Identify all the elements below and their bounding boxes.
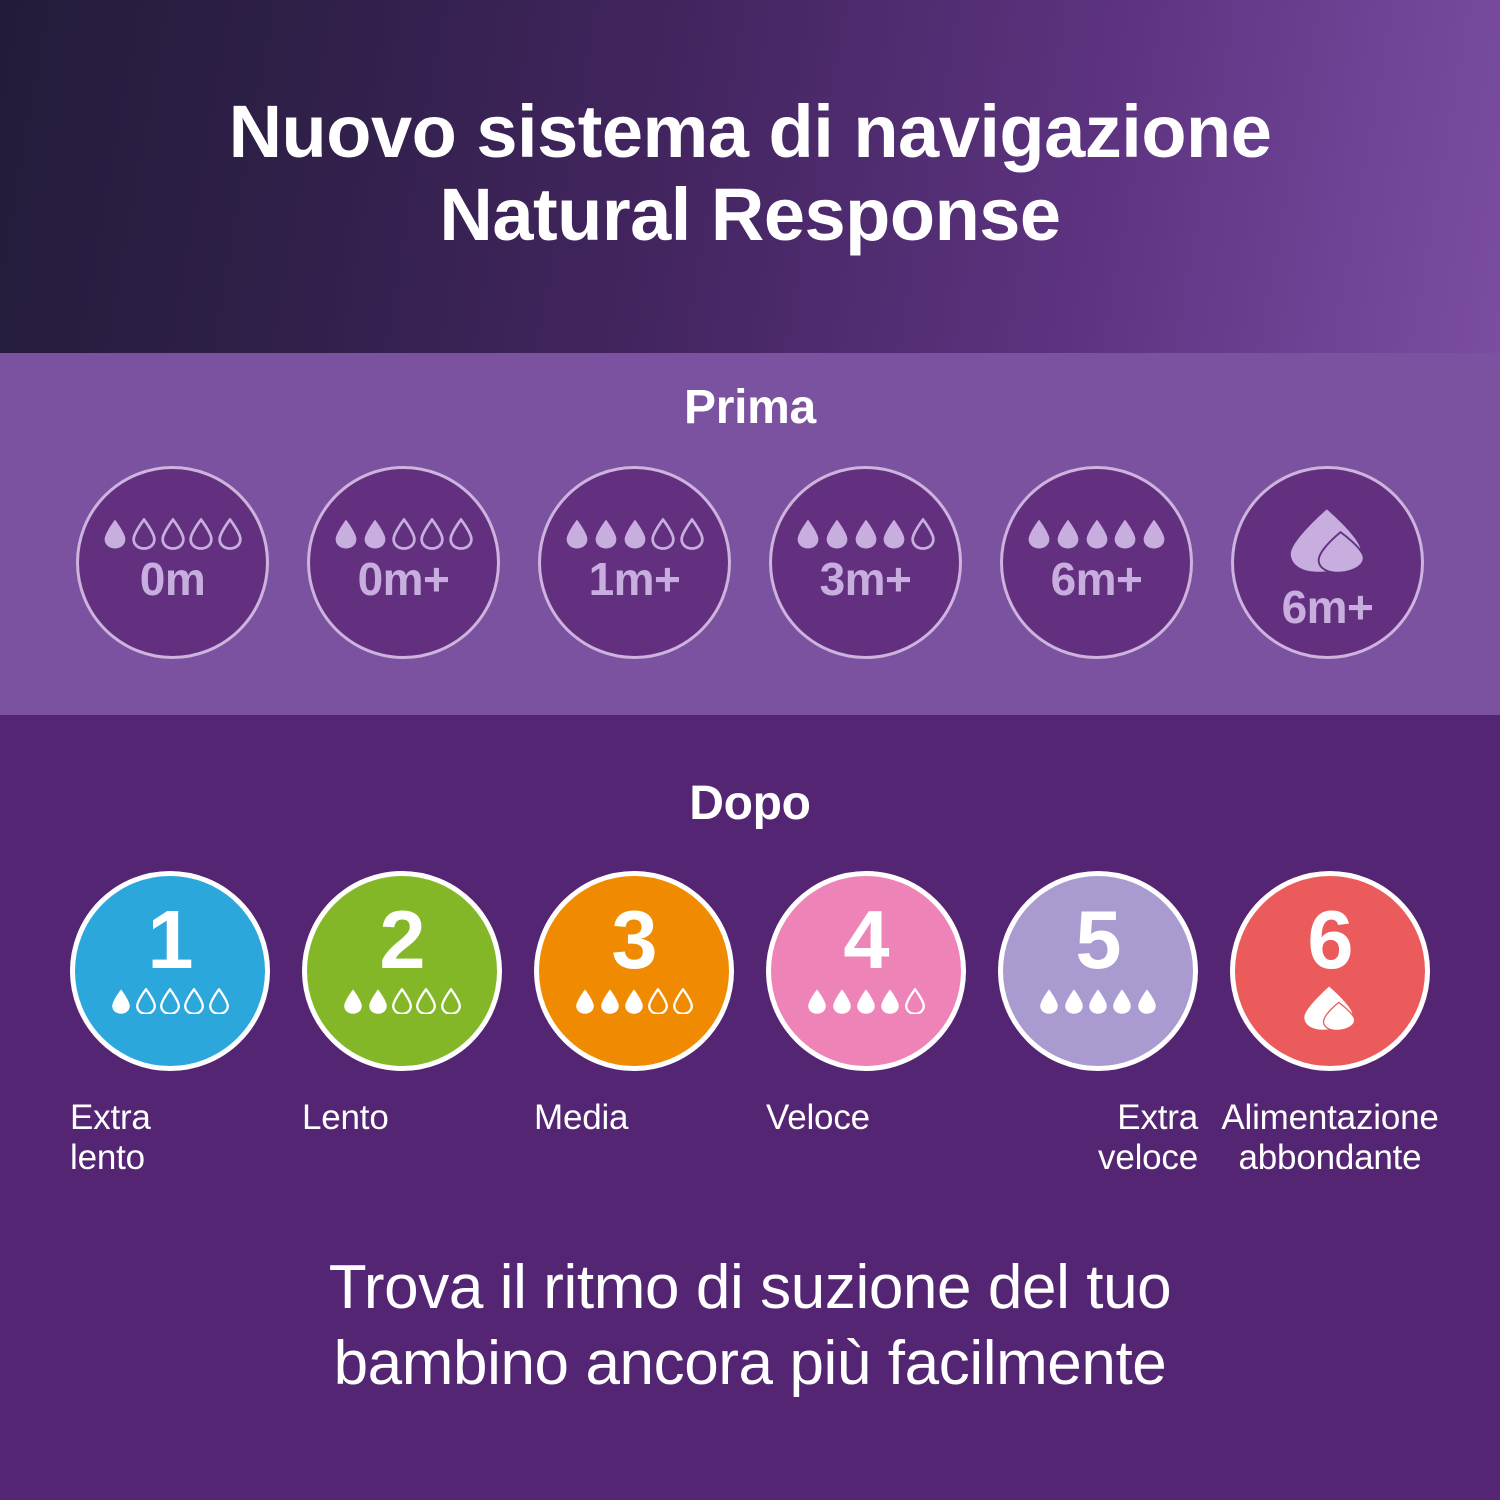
droplet-filled-icon <box>1087 988 1109 1015</box>
droplet-filled-icon <box>1136 988 1158 1015</box>
droplet-outline-icon <box>391 988 413 1015</box>
after-item-circle: 5 <box>998 871 1198 1071</box>
tagline-line2: bambino ancora più facilmente <box>0 1326 1500 1402</box>
droplet-row-icon <box>564 517 705 551</box>
before-items-row: 0m0m+1m+3m+6m+6m+ <box>0 466 1500 686</box>
after-item: 1 <box>70 871 270 1079</box>
droplet-filled-icon <box>599 988 621 1015</box>
droplet-row-icon <box>102 517 243 551</box>
after-item: 6 <box>1230 871 1430 1079</box>
before-item-age-label: 0m <box>140 556 205 602</box>
droplet-outline-icon <box>419 518 445 550</box>
after-items-row: 123456 <box>0 871 1500 1079</box>
thick-feed-icon-holder <box>1286 507 1370 579</box>
after-item-number: 6 <box>1307 898 1352 981</box>
droplet-outline-icon <box>135 988 157 1015</box>
after-item-circle: 2 <box>302 871 502 1071</box>
before-heading: Prima <box>0 380 1500 435</box>
before-item-circle: 1m+ <box>538 466 731 659</box>
header-banner: Nuovo sistema di navigazione Natural Res… <box>0 0 1500 353</box>
droplet-row-icon <box>333 517 474 551</box>
droplet-row-icon <box>1038 986 1158 1016</box>
droplet-outline-icon <box>910 518 936 550</box>
after-item-circle: 3 <box>534 871 734 1071</box>
droplet-outline-icon <box>391 518 417 550</box>
droplet-outline-icon <box>679 518 705 550</box>
before-item-circle: 3m+ <box>769 466 962 659</box>
before-item-age-label: 6m+ <box>1051 556 1143 602</box>
droplet-filled-icon <box>623 988 645 1015</box>
droplet-outline-icon <box>217 518 243 550</box>
droplet-filled-icon <box>795 518 821 550</box>
thick-feed-icon <box>1286 507 1370 574</box>
after-item-label: Extra lento <box>70 1098 270 1178</box>
droplet-outline-icon <box>672 988 694 1015</box>
droplet-outline-icon <box>159 988 181 1015</box>
after-item-circle: 1 <box>70 871 270 1071</box>
droplet-filled-icon <box>1112 518 1138 550</box>
after-item-label: Media <box>534 1098 734 1178</box>
after-item: 4 <box>766 871 966 1079</box>
droplet-filled-icon <box>1063 988 1085 1015</box>
droplet-filled-icon <box>110 988 132 1015</box>
droplet-filled-icon <box>564 518 590 550</box>
after-item-label: Veloce <box>766 1098 966 1178</box>
droplet-outline-icon <box>415 988 437 1015</box>
droplet-filled-icon <box>879 988 901 1015</box>
droplet-filled-icon <box>853 518 879 550</box>
droplet-filled-icon <box>1055 518 1081 550</box>
droplet-filled-icon <box>102 518 128 550</box>
after-item-label: Extra veloce <box>998 1098 1198 1178</box>
before-item-age-label: 6m+ <box>1282 584 1374 630</box>
after-item-circle: 6 <box>1230 871 1430 1071</box>
before-item-circle: 0m <box>76 466 269 659</box>
droplet-outline-icon <box>904 988 926 1015</box>
before-item-age-label: 1m+ <box>589 556 681 602</box>
droplet-filled-icon <box>824 518 850 550</box>
thick-feed-icon-holder <box>1301 985 1359 1036</box>
droplet-filled-icon <box>593 518 619 550</box>
after-item-circle: 4 <box>766 871 966 1071</box>
before-item-age-label: 3m+ <box>820 556 912 602</box>
droplet-row-icon <box>795 517 936 551</box>
droplet-filled-icon <box>362 518 388 550</box>
droplet-outline-icon <box>440 988 462 1015</box>
droplet-filled-icon <box>1038 988 1060 1015</box>
droplet-filled-icon <box>333 518 359 550</box>
droplet-filled-icon <box>622 518 648 550</box>
droplet-outline-icon <box>131 518 157 550</box>
droplet-row-icon <box>1026 517 1167 551</box>
after-item-number: 4 <box>843 898 888 981</box>
droplet-filled-icon <box>855 988 877 1015</box>
after-item-number: 5 <box>1075 898 1120 981</box>
droplet-outline-icon <box>647 988 669 1015</box>
after-heading: Dopo <box>0 776 1500 831</box>
after-item: 5 <box>998 871 1198 1079</box>
after-item: 3 <box>534 871 734 1079</box>
tagline: Trova il ritmo di suzione del tuo bambin… <box>0 1250 1500 1403</box>
tagline-line1: Trova il ritmo di suzione del tuo <box>329 1253 1172 1322</box>
before-item-circle: 6m+ <box>1231 466 1424 659</box>
page-title: Nuovo sistema di navigazione Natural Res… <box>229 91 1272 257</box>
before-item-circle: 0m+ <box>307 466 500 659</box>
droplet-filled-icon <box>342 988 364 1015</box>
page-title-line2: Natural Response <box>229 174 1272 257</box>
droplet-filled-icon <box>1026 518 1052 550</box>
after-section: Dopo 123456 Extra lentoLentoMediaVeloceE… <box>0 715 1500 1500</box>
droplet-filled-icon <box>881 518 907 550</box>
after-item-number: 3 <box>611 898 656 981</box>
thick-feed-icon <box>1301 985 1359 1031</box>
droplet-filled-icon <box>574 988 596 1015</box>
after-item-number: 2 <box>379 898 424 981</box>
after-item-label: Lento <box>302 1098 502 1178</box>
after-item-number: 1 <box>147 898 192 981</box>
droplet-filled-icon <box>1111 988 1133 1015</box>
droplet-outline-icon <box>183 988 205 1015</box>
page-title-line1: Nuovo sistema di navigazione <box>229 90 1272 173</box>
after-item: 2 <box>302 871 502 1079</box>
droplet-row-icon <box>110 986 230 1016</box>
droplet-filled-icon <box>367 988 389 1015</box>
droplet-outline-icon <box>188 518 214 550</box>
before-item-age-label: 0m+ <box>358 556 450 602</box>
droplet-outline-icon <box>448 518 474 550</box>
droplet-outline-icon <box>160 518 186 550</box>
droplet-row-icon <box>342 986 462 1016</box>
droplet-filled-icon <box>806 988 828 1015</box>
before-item-circle: 6m+ <box>1000 466 1193 659</box>
before-section: Prima 0m0m+1m+3m+6m+6m+ <box>0 353 1500 715</box>
droplet-filled-icon <box>831 988 853 1015</box>
droplet-outline-icon <box>208 988 230 1015</box>
after-labels-row: Extra lentoLentoMediaVeloceExtra veloceA… <box>0 1098 1500 1178</box>
droplet-row-icon <box>806 986 926 1016</box>
droplet-filled-icon <box>1084 518 1110 550</box>
droplet-filled-icon <box>1141 518 1167 550</box>
after-item-label: Alimentazione abbondante <box>1190 1098 1470 1178</box>
droplet-row-icon <box>574 986 694 1016</box>
droplet-outline-icon <box>650 518 676 550</box>
